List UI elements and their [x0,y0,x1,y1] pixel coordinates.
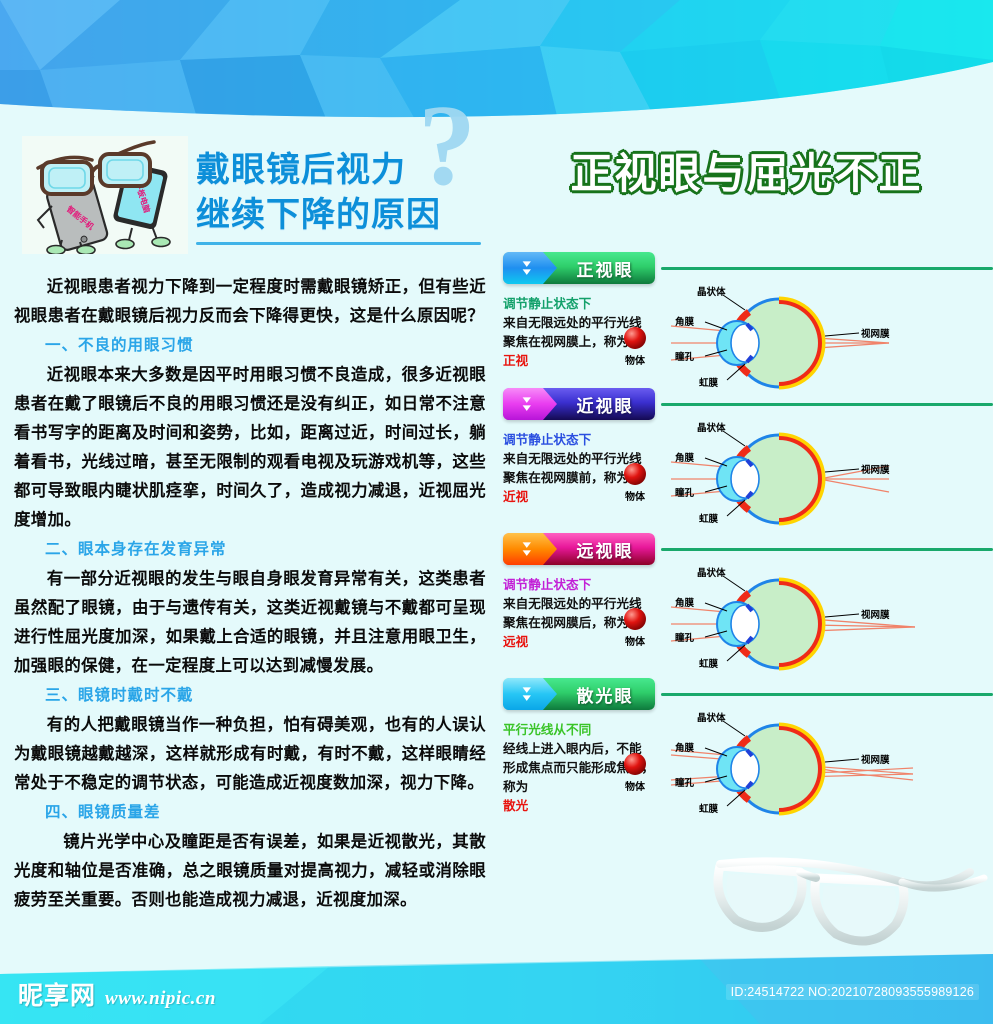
label-lens: 晶状体 [697,712,726,724]
label-retina: 视网膜 [861,609,890,621]
section-divider [661,548,993,551]
section-astigmatism: ▾▾ 散光眼 平行光线从不同 经线上进入眼内后，不能 形成焦点而只能形成焦线， … [503,678,993,828]
section-hyperopia: ▾▾ 远视眼 调节静止状态下 来自无限远处的平行光线 聚焦在视网膜后，称为 远视 [503,533,993,683]
headline-underline [196,242,481,245]
badge-label: 近视眼 [561,388,649,420]
article-para-1: 近视眼本来大多数是因平时用眼习惯不良造成，很多近视眼患者在戴了眼镜后不良的用眼习… [14,360,486,534]
article-para-4: 镜片光学中心及瞳距是否有误差，如果是近视散光，其散光度和轴位是否准确，总之眼镜质… [14,827,486,914]
badge-label: 散光眼 [561,678,649,710]
label-iris: 虹膜 [699,513,719,525]
label-cornea: 角膜 [675,316,695,328]
watermark-site-name: 昵享网 [18,976,96,1012]
object-marker-3: 物体 [615,605,655,653]
badge-label: 正视眼 [561,252,649,284]
article-subhead-4: 四、眼镜质量差 [14,797,486,827]
label-iris: 虹膜 [699,658,719,670]
section-emmetropia: ▾▾ 正视眼 调节静止状态下 来自无限远处的平行光线 聚焦在视网膜上，称为 正视 [503,252,993,402]
eyeglasses-photo [640,838,993,966]
label-object: 物体 [625,490,646,503]
right-headline: 正视眼与屈光不正 [500,140,993,201]
object-marker-4: 物体 [615,750,655,798]
label-retina: 视网膜 [861,464,890,476]
section-header: ▾▾ 正视眼 [503,252,993,284]
section-body: 调节静止状态下 来自无限远处的平行光线 聚焦在视网膜后，称为 远视 [503,565,993,683]
badge-astigmatism[interactable]: ▾▾ 散光眼 [503,678,655,710]
label-object: 物体 [625,635,646,648]
label-iris: 虹膜 [699,803,719,815]
watermark-url: www.nipic.cn [105,988,216,1012]
label-lens: 晶状体 [697,422,726,434]
label-lens: 晶状体 [697,286,726,298]
diagram-hyperopia: 晶状体 角膜 瞳孔 虹膜 视网膜 [653,565,993,683]
right-headline-text: 正视眼与屈光不正 [570,149,922,198]
watermark: 昵享网 www.nipic.cn [18,976,216,1012]
article-para-2: 有一部分近视眼的发生与眼自身眼发育异常有关，这类患者虽然配了眼镜，由于与遗传有关… [14,564,486,680]
top-banner [0,0,993,128]
article-para-3: 有的人把戴眼镜当作一种负担，怕有碍美观，也有的人误认为戴眼镜越戴越深，这样就形成… [14,710,486,797]
label-pupil: 瞳孔 [675,351,695,363]
section-header: ▾▾ 近视眼 [503,388,993,420]
section-myopia: ▾▾ 近视眼 调节静止状态下 来自无限远处的平行光线 聚焦在视网膜前，称为 近视 [503,388,993,538]
left-headline-line2: 继续下降的原因 [196,193,496,238]
object-marker-1: 物体 [615,324,655,372]
article-subhead-2: 二、眼本身存在发育异常 [14,534,486,564]
badge-hyperopia[interactable]: ▾▾ 远视眼 [503,533,655,565]
caption-line-2: 聚焦在视网膜后，称为 [503,615,629,630]
article-subhead-3: 三、眼镜时戴时不戴 [14,680,486,710]
article-body: 近视眼患者视力下降到一定程度时需戴眼镜矫正，但有些近视眼患者在戴眼镜后视力反而会… [14,272,486,914]
diagram-emmetropia: 晶状体 角膜 瞳孔 虹膜 视网膜 [653,284,993,402]
label-object: 物体 [625,780,646,793]
article-intro: 近视眼患者视力下降到一定程度时需戴眼镜矫正，但有些近视眼患者在戴眼镜后视力反而会… [14,272,486,330]
chevron-double-down-icon: ▾▾ [515,388,539,420]
label-cornea: 角膜 [675,597,695,609]
label-lens: 晶状体 [697,567,726,579]
left-headline-line1: 戴眼镜后视力 [196,148,496,193]
label-pupil: 瞳孔 [675,632,695,644]
badge-label: 远视眼 [561,533,649,565]
section-divider [661,267,993,270]
section-divider [661,693,993,696]
caption-line-3: 称为 [503,779,528,794]
section-header: ▾▾ 散光眼 [503,678,993,710]
poster-canvas: ? 智能手机 平板电脑 [0,0,993,1024]
label-pupil: 瞳孔 [675,487,695,499]
diagram-astigmatism: 晶状体 角膜 瞳孔 虹膜 视网膜 [653,710,993,828]
section-divider [661,403,993,406]
caption-line-2: 聚焦在视网膜上，称为 [503,334,629,349]
chevron-double-down-icon: ▾▾ [515,252,539,284]
label-pupil: 瞳孔 [675,777,695,789]
left-headline: 戴眼镜后视力 继续下降的原因 [196,148,496,245]
label-retina: 视网膜 [861,328,890,340]
label-cornea: 角膜 [675,452,695,464]
badge-emmetropia[interactable]: ▾▾ 正视眼 [503,252,655,284]
label-cornea: 角膜 [675,742,695,754]
glasses-mascot-illustration: 智能手机 平板电脑 [22,136,188,254]
section-body: 调节静止状态下 来自无限远处的平行光线 聚焦在视网膜前，称为 近视 [503,420,993,538]
chevron-double-down-icon: ▾▾ [515,533,539,565]
section-body: 调节静止状态下 来自无限远处的平行光线 聚焦在视网膜上，称为 正视 [503,284,993,402]
section-header: ▾▾ 远视眼 [503,533,993,565]
chevron-double-down-icon: ▾▾ [515,678,539,710]
section-body: 平行光线从不同 经线上进入眼内后，不能 形成焦点而只能形成焦线， 称为 散光 [503,710,993,828]
diagram-myopia: 晶状体 角膜 瞳孔 虹膜 视网膜 [653,420,993,538]
label-retina: 视网膜 [861,754,890,766]
label-object: 物体 [625,354,646,367]
article-subhead-1: 一、不良的用眼习惯 [14,330,486,360]
image-id-tag: ID:24514722 NO:20210728093555989126 [726,984,979,1000]
caption-line-2: 聚焦在视网膜前，称为 [503,470,629,485]
badge-myopia[interactable]: ▾▾ 近视眼 [503,388,655,420]
object-marker-2: 物体 [615,460,655,508]
